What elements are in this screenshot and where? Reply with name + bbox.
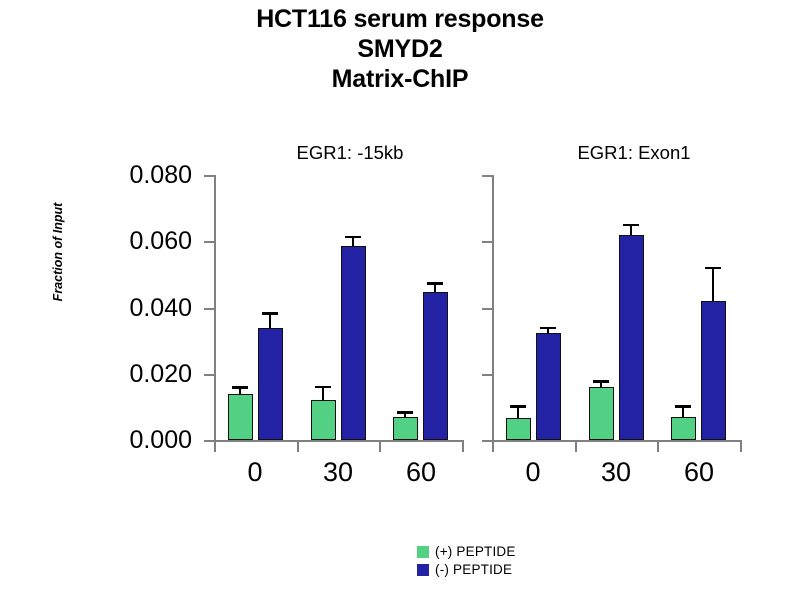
x-axis-tick-mark — [214, 440, 216, 452]
chart-title-line-2: SMYD2 — [0, 34, 800, 64]
error-bar-cap — [705, 267, 721, 270]
legend-item-negative-peptide: (-) PEPTIDE — [417, 561, 516, 579]
error-bar-cap — [675, 405, 691, 408]
bar — [671, 417, 696, 440]
x-axis-line — [214, 440, 462, 442]
error-bar-cap — [540, 327, 556, 330]
bar — [619, 235, 644, 440]
y-axis-tick-mark — [482, 374, 492, 376]
y-axis-tick-mark — [482, 308, 492, 310]
x-axis-tick-label: 60 — [664, 457, 734, 487]
y-axis-tick-label: 0.060 — [92, 229, 192, 254]
bar-group — [575, 175, 658, 440]
error-bar — [517, 408, 519, 418]
bar — [423, 292, 448, 440]
y-axis-tick-label: 0.020 — [92, 362, 192, 387]
bar — [536, 333, 561, 440]
y-axis-tick-label: 0.000 — [92, 428, 192, 453]
error-bar — [547, 329, 549, 333]
error-bar — [682, 408, 684, 418]
bar-group — [297, 175, 380, 440]
y-axis-title: Fraction of Input — [51, 182, 65, 322]
x-axis-line — [492, 440, 740, 442]
legend-label: (-) PEPTIDE — [435, 561, 512, 579]
x-axis-tick-mark — [575, 440, 577, 452]
error-bar-cap — [232, 386, 248, 389]
error-bar-cap — [345, 236, 361, 239]
y-axis-tick-label: 0.040 — [92, 296, 192, 321]
panel-label: EGR1: Exon1 — [510, 142, 758, 164]
plot-panel-egr1-exon1: EGR1: Exon1 03060 — [492, 175, 740, 440]
bar — [589, 387, 614, 440]
y-axis-tick-mark — [204, 241, 214, 243]
bar — [228, 394, 253, 440]
chart-title-line-1: HCT116 serum response — [0, 4, 800, 34]
error-bar — [630, 226, 632, 235]
legend-swatch-icon — [417, 546, 429, 558]
error-bar — [239, 389, 241, 394]
error-bar-cap — [262, 312, 278, 315]
legend-item-positive-peptide: (+) PEPTIDE — [417, 543, 516, 561]
bar-group — [492, 175, 575, 440]
x-axis-tick-mark — [379, 440, 381, 452]
legend-swatch-icon — [417, 564, 429, 576]
chart-legend: (+) PEPTIDE (-) PEPTIDE — [417, 543, 516, 579]
error-bar — [322, 388, 324, 400]
error-bar-cap — [593, 380, 609, 383]
y-axis-tick-mark — [204, 175, 214, 177]
x-axis-tick-label: 30 — [303, 457, 373, 487]
bar-group — [657, 175, 740, 440]
x-axis-tick-mark — [492, 440, 494, 452]
x-axis-tick-labels: 03060 — [492, 457, 740, 497]
bar — [311, 400, 336, 440]
error-bar-cap — [397, 411, 413, 414]
error-bar-cap — [623, 224, 639, 227]
bar-group — [214, 175, 297, 440]
error-bar — [712, 269, 714, 300]
panel-label: EGR1: -15kb — [226, 142, 474, 164]
y-axis-tick-mark — [482, 440, 492, 442]
bar — [393, 417, 418, 440]
chart-title: HCT116 serum response SMYD2 Matrix-ChIP — [0, 4, 800, 94]
error-bar-cap — [510, 405, 526, 408]
bar — [701, 301, 726, 440]
x-axis-tick-mark — [657, 440, 659, 452]
plot-panel-egr1-15kb: EGR1: -15kb 03060 — [214, 175, 462, 440]
chart-title-line-3: Matrix-ChIP — [0, 64, 800, 94]
bar — [341, 246, 366, 440]
x-axis-tick-mark — [297, 440, 299, 452]
bar — [506, 418, 531, 440]
bar — [258, 328, 283, 440]
y-axis-tick-mark — [204, 374, 214, 376]
error-bar — [434, 285, 436, 292]
y-axis-tick-labels: 0.0000.0200.0400.0600.080 — [92, 160, 192, 450]
x-axis-tick-label: 60 — [386, 457, 456, 487]
x-axis-tick-label: 30 — [581, 457, 651, 487]
x-axis-tick-mark — [462, 440, 464, 452]
error-bar — [404, 414, 406, 417]
error-bar — [600, 383, 602, 387]
error-bar — [269, 315, 271, 328]
x-axis-tick-labels: 03060 — [214, 457, 462, 497]
error-bar-cap — [315, 386, 331, 389]
legend-label: (+) PEPTIDE — [435, 543, 516, 561]
y-axis-tick-mark — [204, 440, 214, 442]
x-axis-tick-label: 0 — [220, 457, 290, 487]
error-bar-cap — [427, 282, 443, 285]
x-axis-tick-mark — [740, 440, 742, 452]
error-bar — [352, 238, 354, 245]
y-axis-tick-mark — [482, 241, 492, 243]
y-axis-tick-label: 0.080 — [92, 163, 192, 188]
bar-group — [379, 175, 462, 440]
x-axis-tick-label: 0 — [498, 457, 568, 487]
y-axis-tick-mark — [482, 175, 492, 177]
y-axis-tick-mark — [204, 308, 214, 310]
